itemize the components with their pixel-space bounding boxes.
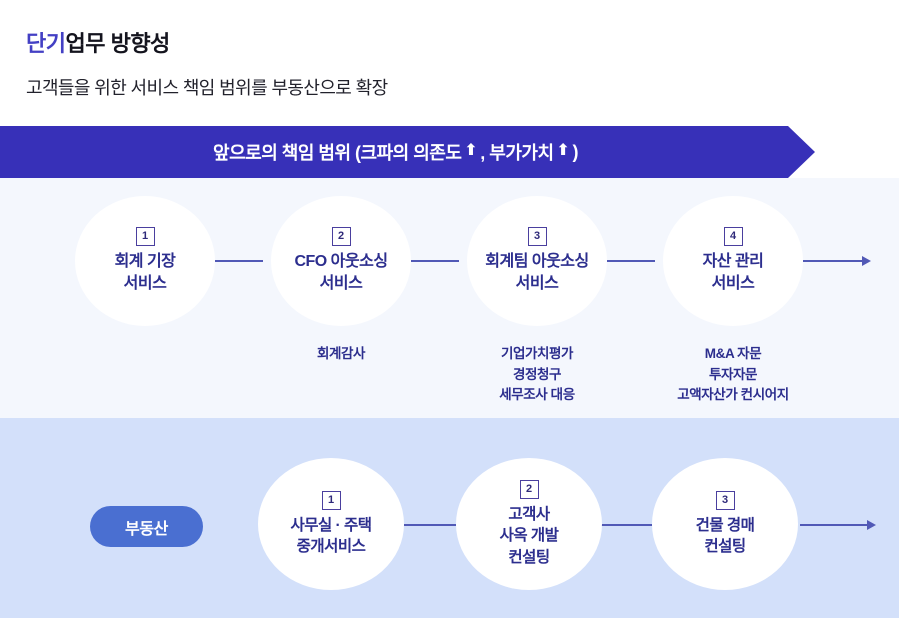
category-pill-label: 부동산 — [125, 515, 168, 539]
page-subtitle: 고객들을 위한 서비스 책임 범위를 부동산으로 확장 — [26, 74, 388, 100]
node-label: 회계 기장 서비스 — [115, 251, 176, 295]
banner-text-part1: 앞으로의 책임 범위 (크파의 의존도 — [213, 139, 461, 165]
page-header: 단기업무 방향성 고객들을 위한 서비스 책임 범위를 부동산으로 확장 — [0, 0, 899, 126]
page-title-accent: 단기 — [26, 31, 65, 56]
arrow-up-icon: ⬆ — [461, 143, 480, 159]
node-number-badge: 3 — [716, 491, 735, 510]
node-label: 자산 관리 서비스 — [703, 251, 764, 295]
flow-node-realestate-1[interactable]: 1 사무실 · 주택 중개서비스 — [258, 458, 404, 590]
banner-text-part2: , 부가가치 — [480, 139, 553, 165]
flow-end-arrow — [800, 520, 876, 530]
page-title: 단기업무 방향성 — [26, 26, 170, 58]
connector-line-1-2 — [215, 260, 263, 262]
flow-end-arrow-line — [803, 260, 862, 262]
flow-node-accounting-4[interactable]: 4 자산 관리 서비스 — [663, 196, 803, 326]
node-number-badge: 2 — [332, 227, 351, 246]
arrow-up-icon: ⬆ — [554, 143, 573, 159]
flow-row-accounting: 1 회계 기장 서비스 2 CFO 아웃소싱 서비스 3 회계팀 아웃소싱 서비… — [0, 178, 899, 418]
flow-node-realestate-2[interactable]: 2 고객사 사옥 개발 컨설팅 — [456, 458, 602, 590]
node-number-badge: 4 — [724, 227, 743, 246]
connector-line-1-2 — [404, 524, 456, 526]
node-label: 고객사 사옥 개발 컨설팅 — [500, 504, 559, 568]
flow-node-accounting-2[interactable]: 2 CFO 아웃소싱 서비스 — [271, 196, 411, 326]
flow-row-realestate: 부동산 1 사무실 · 주택 중개서비스 2 고객사 사옥 개발 컨설팅 3 건… — [0, 418, 899, 618]
node-label: 사무실 · 주택 중개서비스 — [290, 515, 371, 558]
connector-line-3-4 — [607, 260, 655, 262]
node-number-badge: 1 — [136, 227, 155, 246]
connector-line-2-3 — [411, 260, 459, 262]
page-title-main: 업무 방향성 — [65, 31, 169, 56]
node-label: 건물 경매 컨설팅 — [696, 515, 755, 558]
node-sublabel-accounting-4: M&A 자문 투자자문 고액자산가 컨시어지 — [633, 344, 833, 406]
flow-end-arrow-head — [862, 256, 871, 266]
flow-end-arrow-head — [867, 520, 876, 530]
banner-text-part3: ) — [572, 142, 578, 163]
flow-end-arrow-line — [800, 524, 867, 526]
node-number-badge: 1 — [322, 491, 341, 510]
node-label: CFO 아웃소싱 서비스 — [294, 251, 387, 295]
scope-banner-text: 앞으로의 책임 범위 (크파의 의존도 ⬆ , 부가가치 ⬆ ) — [213, 139, 578, 165]
node-sublabel-accounting-2: 회계감사 — [261, 344, 421, 365]
node-number-badge: 2 — [520, 480, 539, 499]
flow-node-accounting-3[interactable]: 3 회계팀 아웃소싱 서비스 — [467, 196, 607, 326]
scope-banner: 앞으로의 책임 범위 (크파의 의존도 ⬆ , 부가가치 ⬆ ) — [0, 126, 815, 178]
flow-end-arrow — [803, 256, 871, 266]
node-number-badge: 3 — [528, 227, 547, 246]
node-label: 회계팀 아웃소싱 서비스 — [485, 251, 589, 295]
node-sublabel-accounting-3: 기업가치평가 경정청구 세무조사 대응 — [457, 344, 617, 406]
connector-line-2-3 — [600, 524, 652, 526]
category-pill-realestate[interactable]: 부동산 — [90, 506, 203, 547]
flow-node-realestate-3[interactable]: 3 건물 경매 컨설팅 — [652, 458, 798, 590]
flow-node-accounting-1[interactable]: 1 회계 기장 서비스 — [75, 196, 215, 326]
